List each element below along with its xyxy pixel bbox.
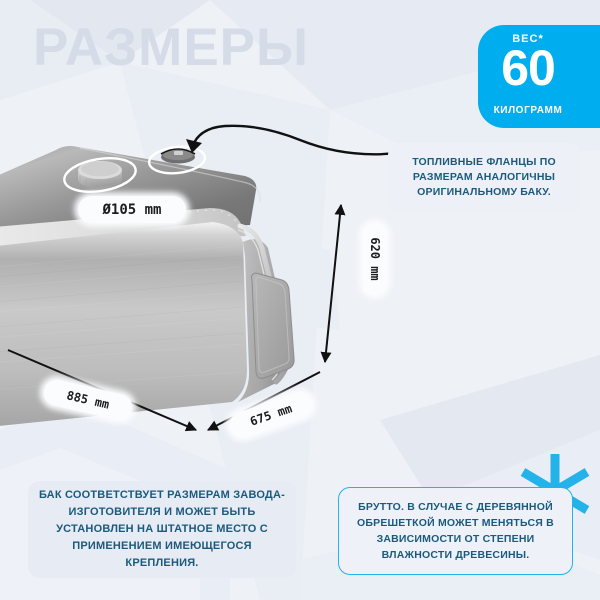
weight-badge: ВЕС* 60 КИЛОГРАММ: [478, 25, 600, 128]
callout-factory-text: БАК СООТВЕТСТВУЕТ РАЗМЕРАМ ЗАВОДА-ИЗГОТО…: [28, 487, 296, 572]
page-title: РАЗМЕРЫ: [33, 21, 309, 74]
diameter-label: Ø105 mm: [78, 196, 186, 223]
callout-gross-text: БРУТТО. В СЛУЧАЕ С ДЕРЕВЯННОЙ ОБРЕШЕТКОЙ…: [339, 499, 572, 563]
curved-arrow-icon: [150, 110, 410, 190]
callout-flange: ТОПЛИВНЫЕ ФЛАНЦЫ ПО РАЗМЕРАМ АНАЛОГИЧНЫ …: [388, 143, 580, 211]
callout-flange-text: ТОПЛИВНЫЕ ФЛАНЦЫ ПО РАЗМЕРАМ АНАЛОГИЧНЫ …: [388, 155, 580, 200]
weight-badge-unit: КИЛОГРАММ: [478, 105, 578, 116]
height-label: 620 mm: [363, 223, 387, 295]
height-arrow: [325, 205, 341, 362]
callout-gross: БРУТТО. В СЛУЧАЕ С ДЕРЕВЯННОЙ ОБРЕШЕТКОЙ…: [338, 487, 573, 575]
weight-badge-value: 60: [478, 42, 578, 95]
infographic-canvas: РАЗМЕРЫ ВЕС* 60 КИЛОГРАММ: [0, 0, 600, 600]
callout-factory: БАК СООТВЕТСТВУЕТ РАЗМЕРАМ ЗАВОДА-ИЗГОТО…: [28, 481, 296, 578]
